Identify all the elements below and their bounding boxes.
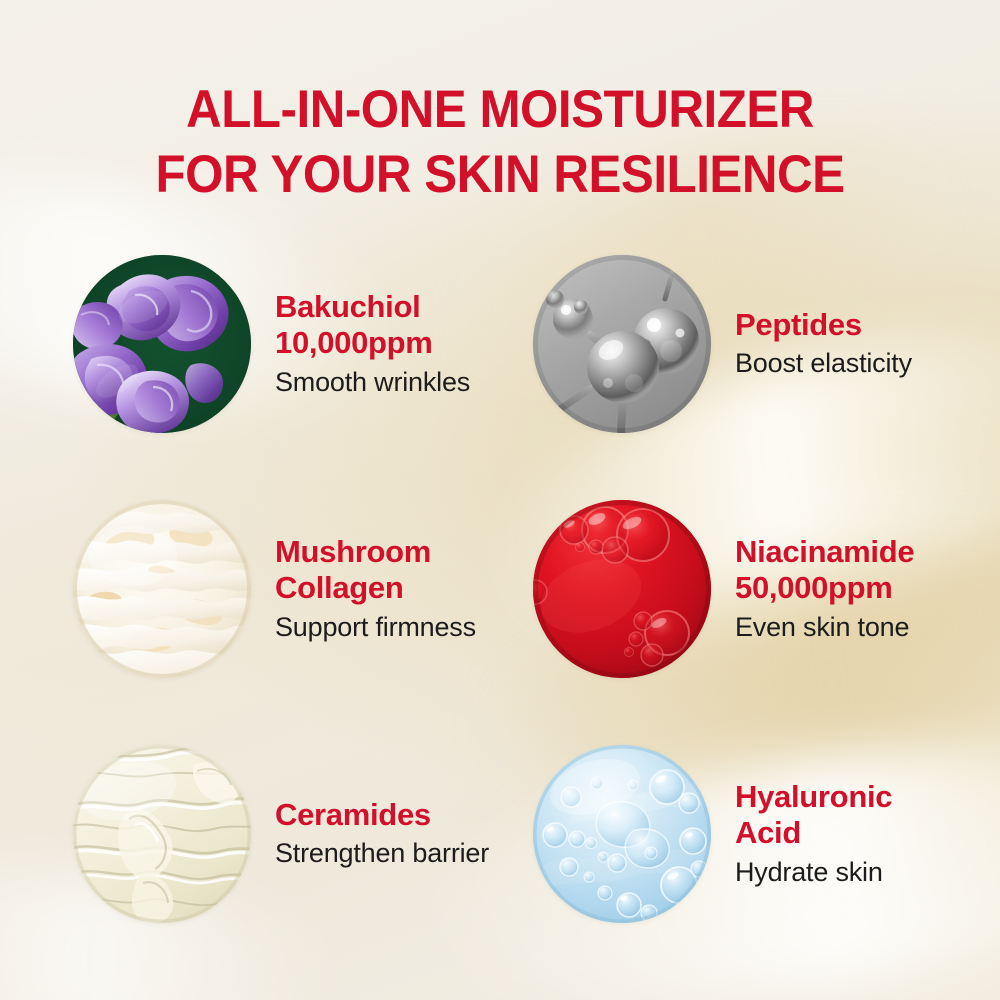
ingredient-text-ceramides: Ceramides Strengthen barrier [275,797,489,871]
cream-texture-image [73,745,251,923]
silver-molecule-graphic [533,255,711,433]
page-title: ALL-IN-ONE MOISTURIZER FOR YOUR SKIN RES… [35,78,965,207]
white-mushroom-image [73,500,251,678]
ingredient-benefit: Support firmness [275,611,476,645]
silver-molecule-image [533,255,711,433]
purple-flower-image [73,255,251,433]
ingredient-name: Bakuchiol 10,000ppm [275,289,470,362]
ingredient-benefit: Smooth wrinkles [275,366,470,400]
ingredient-benefit: Even skin tone [735,611,914,645]
red-liquid-bubbles-graphic [533,500,711,678]
ingredient-text-hyaluronic-acid: Hyaluronic Acid Hydrate skin [735,779,892,890]
ingredient-item-bakuchiol: Bakuchiol 10,000ppm Smooth wrinkles [73,255,470,433]
ingredient-name: Peptides [735,307,912,344]
ingredient-item-hyaluronic-acid: Hyaluronic Acid Hydrate skin [533,745,892,923]
ingredient-grid: Bakuchiol 10,000ppm Smooth wrinkles [0,255,1000,975]
ingredient-text-bakuchiol: Bakuchiol 10,000ppm Smooth wrinkles [275,289,470,400]
red-liquid-bubbles-image [533,500,711,678]
blue-gel-bubbles-image [533,745,711,923]
ingredient-text-niacinamide: Niacinamide 50,000ppm Even skin tone [735,534,914,645]
ingredient-text-mushroom-collagen: Mushroom Collagen Support firmness [275,534,476,645]
ingredient-name: Hyaluronic Acid [735,779,892,852]
cream-texture-graphic [73,745,251,923]
ingredient-benefit: Hydrate skin [735,856,892,890]
ingredient-name: Niacinamide 50,000ppm [735,534,914,607]
ingredient-benefit: Strengthen barrier [275,837,489,871]
ingredient-name: Mushroom Collagen [275,534,476,607]
ingredient-item-niacinamide: Niacinamide 50,000ppm Even skin tone [533,500,914,678]
ingredient-item-mushroom-collagen: Mushroom Collagen Support firmness [73,500,476,678]
ingredient-name: Ceramides [275,797,489,834]
ingredient-item-ceramides: Ceramides Strengthen barrier [73,745,489,923]
headline-line-1: ALL-IN-ONE MOISTURIZER [35,78,965,143]
white-mushroom-graphic [73,500,251,678]
ingredient-text-peptides: Peptides Boost elasticity [735,307,912,381]
purple-flower-graphic [73,255,251,433]
ingredient-benefit: Boost elasticity [735,347,912,381]
blue-gel-bubbles-graphic [533,745,711,923]
ingredient-item-peptides: Peptides Boost elasticity [533,255,912,433]
headline-line-2: FOR YOUR SKIN RESILIENCE [35,143,965,208]
